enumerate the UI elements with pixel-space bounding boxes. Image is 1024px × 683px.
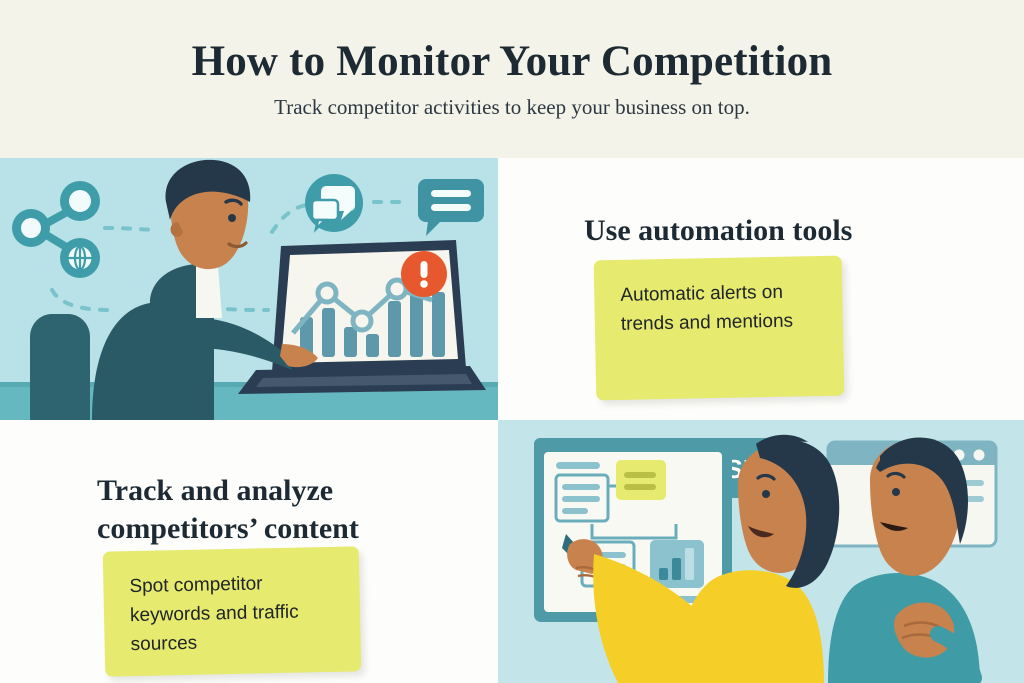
share-network-icon bbox=[12, 181, 100, 278]
message-bubble-icon bbox=[418, 179, 484, 236]
globe-icon bbox=[69, 247, 92, 270]
panel-track-analyze-content: Track and analyze competitors’ content S… bbox=[0, 420, 498, 683]
sticky-note-automation: Automatic alerts on trends and mentions bbox=[594, 256, 845, 401]
chat-bubbles-icon bbox=[305, 174, 363, 232]
bar-chart-widget-icon bbox=[650, 540, 704, 588]
office-chair bbox=[30, 314, 90, 420]
panel-seo-board-discussion: SEO bbox=[498, 420, 1024, 683]
panel-heading-automation: Use automation tools bbox=[584, 212, 852, 250]
sticky-note-keywords: Spot competitor keywords and traffic sou… bbox=[103, 546, 362, 676]
woman-eye bbox=[762, 490, 770, 498]
man-eye bbox=[892, 488, 900, 496]
page-title: How to Monitor Your Competition bbox=[192, 38, 833, 85]
infographic-canvas: How to Monitor Your Competition Track co… bbox=[0, 0, 1024, 683]
panel-heading-track-analyze: Track and analyze competitors’ content bbox=[97, 472, 457, 549]
page-subtitle: Track competitor activities to keep your… bbox=[274, 95, 750, 120]
eye bbox=[228, 214, 236, 222]
alert-icon bbox=[401, 251, 447, 297]
seo-board-discussion-illustration: SEO bbox=[498, 420, 1024, 683]
yellow-card bbox=[616, 460, 666, 500]
panel-use-automation-tools: Use automation tools Automatic alerts on… bbox=[498, 158, 1024, 420]
panel-man-at-laptop bbox=[0, 158, 498, 420]
man-at-laptop-illustration bbox=[0, 158, 498, 420]
header-band: How to Monitor Your Competition Track co… bbox=[0, 0, 1024, 158]
